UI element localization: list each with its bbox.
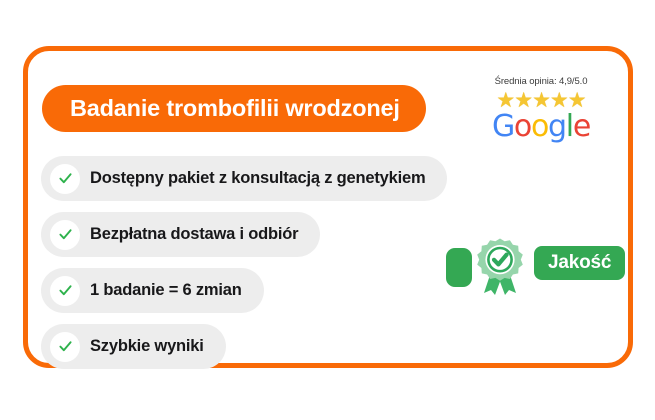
jakosc-badge: Jakość — [534, 246, 625, 280]
google-logo: G o o g l e — [492, 112, 590, 142]
quality-badge-header: Jakość — [432, 237, 628, 299]
google-logo-letter: G — [492, 112, 514, 142]
feature-label: Szybkie wyniki — [90, 337, 204, 356]
google-review-block: Średnia opinia: 4,9/5.0 ★ ★ ★ ★ ★ G o o … — [476, 76, 606, 142]
feature-label: Dostępny pakiet z konsultacją z genetyki… — [90, 169, 425, 188]
star-icon: ★ — [532, 90, 550, 111]
google-logo-letter: g — [548, 112, 566, 142]
check-icon — [50, 220, 80, 250]
certification-line-1: potwierdzona — [552, 304, 628, 320]
review-average-caption: Średnia opinia: 4,9/5.0 — [495, 76, 588, 87]
check-icon — [50, 276, 80, 306]
green-square-decoration — [446, 248, 472, 287]
check-icon — [50, 164, 80, 194]
neqas-identity: UK NEQAS International Quality Expertise — [432, 309, 538, 332]
page-title: Badanie trombofilii wrodzonej — [42, 85, 426, 132]
feature-item: Bezpłatna dostawa i odbiór — [41, 212, 320, 257]
rosette-seal-icon — [470, 237, 530, 299]
star-icon: ★ — [496, 90, 514, 111]
feature-list: Dostępny pakiet z konsultacją z genetyki… — [41, 156, 447, 369]
star-icon: ★ — [550, 90, 568, 111]
vertical-divider — [538, 303, 539, 337]
certification-line-2: certyfikatem — [552, 320, 628, 336]
check-icon — [50, 332, 80, 362]
page-title-text: Badanie trombofilii wrodzonej — [70, 95, 400, 122]
feature-item: 1 badanie = 6 zmian — [41, 268, 264, 313]
feature-item: Dostępny pakiet z konsultacją z genetyki… — [41, 156, 447, 201]
star-icon: ★ — [514, 90, 532, 111]
jakosc-label: Jakość — [548, 252, 611, 274]
promo-card: Badanie trombofilii wrodzonej Średnia op… — [23, 46, 633, 368]
feature-item: Szybkie wyniki — [41, 324, 226, 369]
neqas-name: UK NEQAS — [448, 309, 525, 325]
google-logo-letter: o — [531, 112, 548, 142]
star-icon: ★ — [568, 90, 586, 111]
feature-label: Bezpłatna dostawa i odbiór — [90, 225, 298, 244]
certification-text: potwierdzona certyfikatem — [539, 304, 628, 336]
quality-certification-badge: UK NEQAS International Quality Expertise… — [432, 237, 628, 349]
google-logo-letter: l — [566, 112, 573, 142]
neqas-tagline: International Quality Expertise — [443, 326, 531, 332]
star-rating: ★ ★ ★ ★ ★ — [496, 90, 585, 111]
feature-label: 1 badanie = 6 zmian — [90, 281, 242, 300]
google-logo-letter: o — [514, 112, 531, 142]
neqas-panel: UK NEQAS International Quality Expertise… — [432, 291, 628, 349]
google-logo-letter: e — [573, 112, 590, 142]
